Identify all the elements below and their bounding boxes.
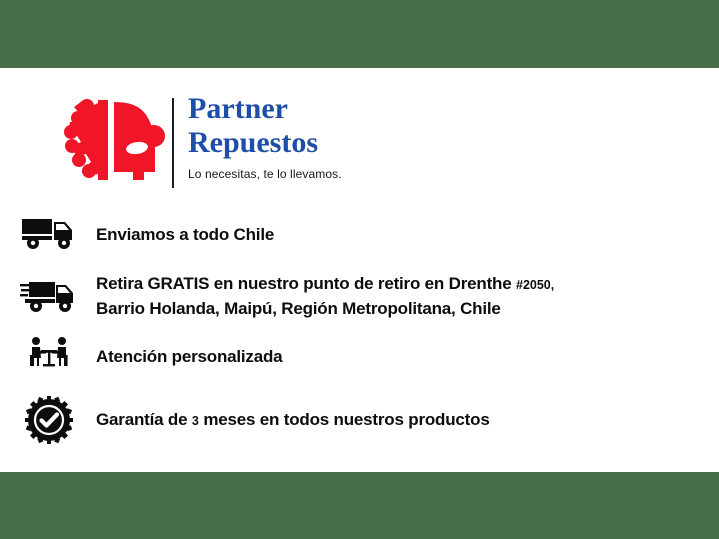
feature-text-retiro-line2: Barrio Holanda, Maipú, Región Metropolit… [96,297,554,320]
feature-row-retiro: Retira GRATIS en nuestro punto de retiro… [18,268,698,324]
feature-text-atencion: Atención personalizada [80,345,282,368]
brand-line-2: Repuestos [188,126,478,160]
feature-row-garantia: Garantía de 3 meses en todos nuestros pr… [18,394,698,446]
feature-text-retiro-number: #2050, [516,278,554,292]
feature-text-envios: Enviamos a todo Chile [80,223,274,246]
logo-block: Partner Repuestos Lo necesitas, te lo ll… [58,92,478,190]
feature-row-envios: Enviamos a todo Chile [18,212,698,256]
feature-text-garantia-part1: Garantía de [96,410,192,429]
feature-row-atencion: Atención personalizada [18,333,698,379]
brand-tagline: Lo necesitas, te lo llevamos. [188,167,478,181]
brand-line-1: Partner [188,92,478,126]
people-at-table-icon [18,334,80,378]
fast-truck-icon [18,274,80,318]
bottom-green-band [0,472,719,539]
truck-icon [18,212,80,256]
feature-text-retiro: Retira GRATIS en nuestro punto de retiro… [80,272,554,320]
feature-text-garantia: Garantía de 3 meses en todos nuestros pr… [80,408,490,433]
logo-wordmark: Partner Repuestos Lo necesitas, te lo ll… [188,92,478,181]
logo-divider [172,98,174,188]
top-green-band [0,0,719,68]
promo-banner: Partner Repuestos Lo necesitas, te lo ll… [0,0,719,539]
feature-text-retiro-line1: Retira GRATIS en nuestro punto de retiro… [96,274,516,293]
feature-text-garantia-part2: meses en todos nuestros productos [199,410,490,429]
check-badge-icon [18,398,80,442]
gear-car-icon [58,96,170,184]
feature-text-garantia-number: 3 [192,414,199,428]
